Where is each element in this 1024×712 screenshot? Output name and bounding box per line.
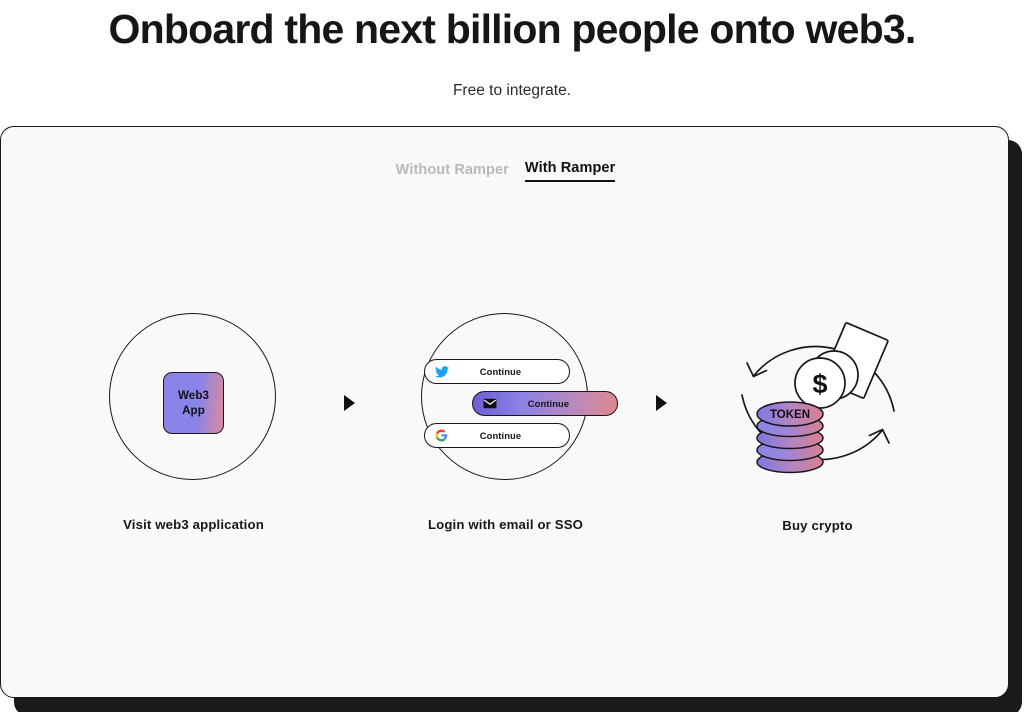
step-1-visual: Web3 App xyxy=(104,313,284,493)
onboarding-card: Without Ramper With Ramper Web3 App Visi… xyxy=(0,126,1009,698)
exchange-illustration-svg: $ TOKEN xyxy=(728,313,908,493)
step-3-caption: Buy crypto xyxy=(782,518,852,533)
web3-app-tile: Web3 App xyxy=(163,372,224,434)
step-visit-web3-application: Web3 App Visit web3 application xyxy=(69,313,319,532)
continue-with-twitter-label: Continue xyxy=(455,366,569,377)
step-connector-2 xyxy=(631,313,693,493)
login-buttons-stack: Continue Continue xyxy=(416,313,596,493)
buy-crypto-illustration: $ TOKEN xyxy=(728,313,908,493)
step-1-caption: Visit web3 application xyxy=(123,517,264,532)
continue-with-google-button[interactable]: Continue xyxy=(424,423,570,448)
envelope-icon xyxy=(477,398,503,409)
step-2-visual: Continue Continue xyxy=(416,313,596,493)
tab-without-ramper[interactable]: Without Ramper xyxy=(396,162,509,182)
step-buy-crypto: $ TOKEN Buy cr xyxy=(693,313,943,533)
continue-with-twitter-button[interactable]: Continue xyxy=(424,359,570,384)
continue-with-google-label: Continue xyxy=(455,430,569,441)
step-2-caption: Login with email or SSO xyxy=(428,517,583,532)
step-3-visual: $ TOKEN xyxy=(728,313,908,493)
coin-dollar-symbol: $ xyxy=(812,369,827,399)
continue-with-email-button[interactable]: Continue xyxy=(472,391,618,416)
arrow-right-icon xyxy=(344,395,355,411)
comparison-tabs: Without Ramper With Ramper xyxy=(1,160,1009,182)
tab-with-ramper[interactable]: With Ramper xyxy=(525,160,615,182)
page-subtitle: Free to integrate. xyxy=(0,80,1024,102)
web3-app-tile-line2: App xyxy=(182,403,205,418)
web3-app-tile-line1: Web3 xyxy=(178,388,209,403)
step-connector-1 xyxy=(319,313,381,493)
step-login-with-email-or-sso: Continue Continue xyxy=(381,313,631,532)
steps-row: Web3 App Visit web3 application xyxy=(1,313,1009,533)
token-stack-label: TOKEN xyxy=(769,409,809,421)
continue-with-email-label: Continue xyxy=(503,398,617,409)
page-header: Onboard the next billion people onto web… xyxy=(0,0,1024,102)
arrow-right-icon xyxy=(656,395,667,411)
google-icon xyxy=(429,429,455,442)
twitter-icon xyxy=(429,366,455,378)
page-title: Onboard the next billion people onto web… xyxy=(0,2,1024,54)
onboarding-card-wrapper: Without Ramper With Ramper Web3 App Visi… xyxy=(0,126,1024,712)
